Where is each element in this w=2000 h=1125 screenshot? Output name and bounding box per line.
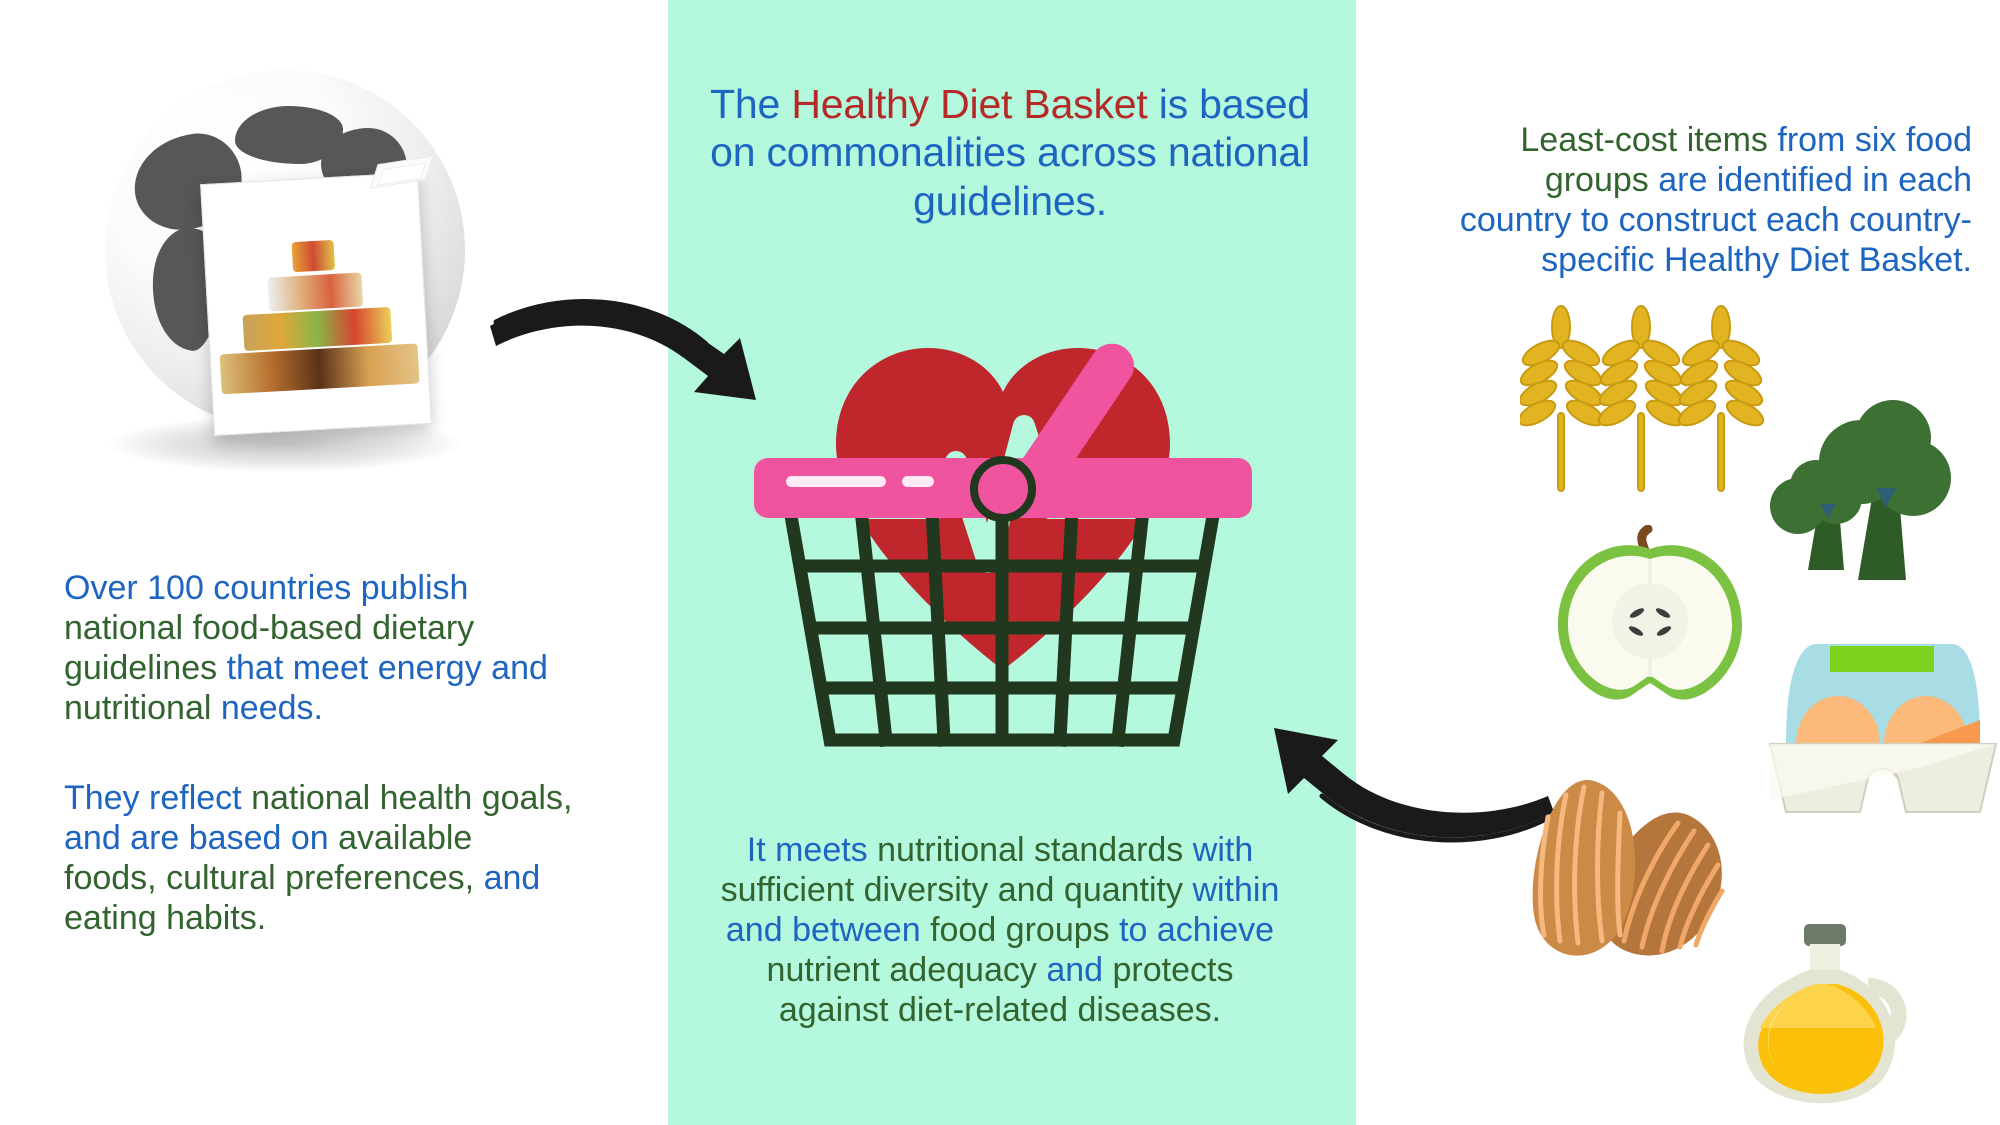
center-seg-2: nutritional standards — [877, 831, 1193, 869]
center-seg-3: with — [1193, 831, 1253, 869]
oil-bottle-icon — [1718, 922, 1953, 1122]
title-segment-2: Healthy Diet Basket — [791, 81, 1147, 127]
right-seg-4: are identified in each country to constr… — [1460, 161, 1972, 279]
infographic-canvas: The Healthy Diet Basket is based on comm… — [0, 0, 2000, 1125]
basket-body — [782, 510, 1222, 750]
basket-bar-slot-short — [902, 476, 934, 487]
pyramid-tier-grains — [220, 343, 420, 394]
right-seg-2: from six food — [1777, 121, 1972, 159]
egg-carton-icon — [1768, 632, 1998, 817]
left-p2-seg-2: national health goals, — [251, 779, 572, 817]
left-p1-seg-3: that meet energy and — [227, 649, 548, 687]
center-seg-9: and — [1046, 951, 1112, 989]
center-seg-7: to achieve — [1119, 911, 1274, 949]
wheat-stalks-icon — [1520, 305, 1770, 495]
center-seg-6: food groups — [930, 911, 1119, 949]
left-p2-seg-3: and are based on — [64, 819, 338, 857]
globe-illustration — [85, 60, 485, 480]
left-p2-seg-5: and — [484, 859, 541, 897]
food-pyramid-booklet — [200, 172, 432, 436]
right-paragraph: Least-cost items from six food groups ar… — [1432, 120, 1972, 280]
title-segment-1: The — [710, 81, 791, 127]
basket-handle-ring — [970, 456, 1036, 522]
pyramid-tier-oils — [292, 240, 336, 272]
left-p1-seg-4: nutritional — [64, 689, 221, 727]
pyramid-tier-fruits-vegetables — [243, 307, 393, 351]
left-paragraph-2: They reflect national health goals, and … — [64, 778, 574, 938]
broccoli-icon — [1758, 400, 1998, 600]
pyramid-tier-dairy-protein — [267, 272, 363, 311]
center-paragraph: It meets nutritional standards with suff… — [720, 830, 1280, 1031]
curved-arrow-left-icon — [1248, 700, 1560, 852]
shopping-basket-illustration — [742, 300, 1262, 770]
basket-bar-slot-long — [786, 476, 886, 487]
right-seg-3: groups — [1545, 161, 1658, 199]
center-seg-4: sufficient diversity and quantity — [721, 871, 1193, 909]
right-seg-1: Least-cost items — [1520, 121, 1777, 159]
center-seg-8: nutrient adequacy — [767, 951, 1047, 989]
left-p1-seg-5: needs. — [221, 689, 323, 727]
apple-half-icon — [1550, 525, 1750, 725]
left-paragraph-1: Over 100 countries publish national food… — [64, 568, 574, 728]
page-title: The Healthy Diet Basket is based on comm… — [690, 80, 1330, 225]
left-p1-seg-1: Over 100 countries publish — [64, 569, 468, 607]
left-p2-seg-1: They reflect — [64, 779, 251, 817]
left-p2-seg-6: eating habits. — [64, 899, 266, 937]
center-seg-1: It meets — [747, 831, 877, 869]
